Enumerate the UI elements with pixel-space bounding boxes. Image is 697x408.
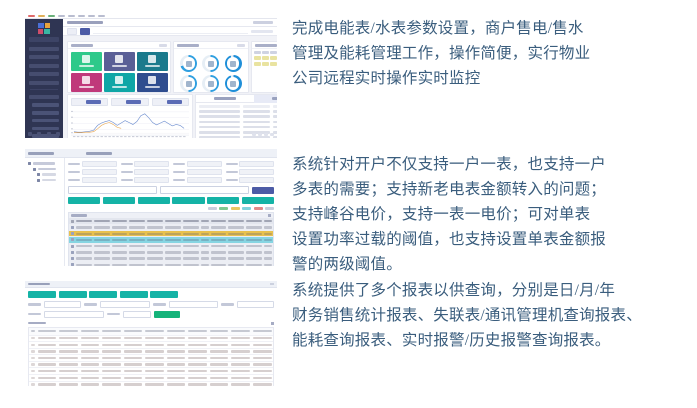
panel-quick-entry: [67, 41, 171, 93]
expand-icon[interactable]: [28, 162, 31, 165]
row-checkbox[interactable]: [71, 257, 74, 260]
cell: [270, 62, 277, 66]
gauge-glyph-icon: [208, 61, 214, 67]
panel-more-link[interactable]: [237, 44, 245, 47]
filter-field[interactable]: [226, 169, 275, 175]
meter-icon: [115, 55, 123, 63]
tile-label: [145, 65, 160, 67]
sidebar-item-home[interactable]: [29, 47, 59, 51]
filter-field[interactable]: [226, 177, 275, 183]
table-row[interactable]: [29, 382, 273, 386]
list-item[interactable]: [199, 110, 277, 113]
select-all-checkbox[interactable]: [71, 220, 74, 223]
window-maximize-icon: [48, 15, 55, 17]
expand-icon[interactable]: [33, 168, 36, 171]
table-row[interactable]: [29, 362, 273, 369]
quick-entry-grid[interactable]: [68, 49, 170, 94]
filter-label: [107, 313, 120, 315]
legend-alarm: [254, 207, 263, 210]
toolbar-icon: [78, 15, 85, 17]
cell: [262, 62, 269, 66]
filter-field[interactable]: [68, 169, 117, 175]
filter-field[interactable]: [121, 161, 170, 167]
legend-offline: [242, 207, 251, 210]
section-title: [86, 152, 112, 155]
row-checkbox[interactable]: [71, 263, 74, 266]
table-row[interactable]: [29, 355, 273, 362]
header-user-menu[interactable]: [253, 21, 273, 24]
meter-table-area: [65, 158, 277, 266]
sidebar-item-energy[interactable]: [29, 72, 59, 76]
tab-consumption-rank[interactable]: [254, 95, 277, 103]
cell: [254, 62, 261, 66]
list-item[interactable]: [199, 121, 277, 124]
filter-field[interactable]: [226, 161, 275, 167]
filter-field[interactable]: [68, 177, 117, 183]
filter-select-building[interactable]: [44, 301, 81, 308]
slide-root: 完成电能表/水表参数设置，商户售电/售水 管理及能耗管理工作，操作简便，实行物业…: [0, 0, 697, 408]
toolbar-icon: [68, 15, 75, 17]
breadcrumb: [63, 19, 277, 27]
panel-gauges: [173, 41, 249, 93]
list-item[interactable]: [199, 115, 277, 118]
offline-report-button[interactable]: [120, 291, 148, 298]
table-row[interactable]: [29, 342, 273, 349]
gauge-glyph-icon: [208, 81, 214, 87]
query-button[interactable]: [154, 311, 180, 318]
chart-filter-meter[interactable]: [152, 98, 189, 106]
legend-normal: [208, 207, 217, 210]
ranking-tabs[interactable]: [196, 95, 277, 103]
chart-filter-date[interactable]: [71, 98, 108, 106]
filter-label: [28, 303, 41, 305]
report-caption-bar: [28, 320, 274, 326]
tab-strip[interactable]: [63, 27, 277, 36]
filter-field[interactable]: [121, 169, 170, 175]
filter-field[interactable]: [173, 177, 222, 183]
list-item[interactable]: [199, 126, 277, 129]
table-row[interactable]: [254, 56, 277, 60]
search-row[interactable]: [68, 186, 274, 194]
monthly-report-button[interactable]: [59, 291, 87, 298]
filter-grid[interactable]: [68, 161, 274, 183]
chart-filter-building[interactable]: [111, 98, 148, 106]
table-header-row: [29, 328, 273, 336]
sidebar-nav[interactable]: [25, 47, 63, 138]
daily-report-button[interactable]: [28, 291, 56, 298]
screenshot-meter-table[interactable]: [25, 149, 277, 266]
filter-date-end[interactable]: [123, 311, 151, 318]
table-header-row: [199, 105, 277, 108]
gauge-glyph-icon: [186, 61, 192, 67]
panel-energy-trend: [67, 94, 193, 138]
panel-more-link[interactable]: [159, 44, 167, 47]
gauge-meter-3[interactable]: [225, 55, 242, 72]
tree-node-building[interactable]: [33, 168, 61, 171]
page-header-bar: [25, 281, 277, 288]
col-head: [270, 51, 277, 54]
fullscreen-icon[interactable]: [47, 132, 51, 136]
header-close-icon[interactable]: [270, 283, 274, 286]
building-tree-panel[interactable]: [25, 158, 65, 266]
tab-actions[interactable]: [251, 30, 273, 33]
tab-home[interactable]: [80, 28, 90, 35]
gauge-meter-4[interactable]: [180, 75, 197, 92]
dashboard-pagination[interactable]: [252, 133, 274, 136]
line-chart-svg: [71, 108, 189, 138]
folder-icon: [37, 173, 40, 176]
filter-field[interactable]: [121, 177, 170, 183]
tile-sell-power[interactable]: [71, 52, 102, 71]
table-header-row: [69, 218, 273, 225]
filter-label: [153, 303, 166, 305]
window-minimize-icon: [38, 15, 45, 17]
filter-label: [84, 303, 97, 305]
gauge-meter-2[interactable]: [202, 55, 219, 72]
toolbar-icon: [98, 15, 105, 17]
page-title: [28, 152, 54, 155]
dashboard-sidebar[interactable]: [25, 19, 63, 138]
table-row[interactable]: [29, 368, 273, 375]
panel-alarm-table: [251, 41, 277, 93]
search-input[interactable]: [68, 186, 157, 194]
tile-label: [112, 65, 127, 67]
page-header-bar: [25, 149, 277, 158]
action-button-row[interactable]: [68, 197, 274, 204]
toolbar-icon: [88, 15, 95, 17]
tile-label: [145, 86, 160, 88]
list-item[interactable]: [199, 136, 277, 138]
sidebar-item-reports[interactable]: [29, 95, 59, 99]
folder-icon: [37, 179, 40, 182]
cell: [254, 56, 261, 60]
report-filter-row-2[interactable]: [28, 311, 274, 318]
report-icon: [115, 76, 123, 84]
panel-title-text: [255, 44, 277, 47]
report-body: [25, 288, 277, 386]
column-settings-icon[interactable]: [268, 214, 271, 217]
energy-line-chart: [71, 108, 189, 138]
tile-label: [79, 86, 94, 88]
tile-report-query[interactable]: [104, 73, 135, 92]
panel-title-text: [71, 44, 93, 47]
bar-chart-icon: [82, 76, 90, 84]
recharge-button[interactable]: [172, 197, 204, 204]
delete-button[interactable]: [138, 197, 170, 204]
page-size-select[interactable]: [270, 133, 274, 136]
sidebar-subitem-yearly[interactable]: [32, 119, 59, 122]
app-logo-icon: [38, 23, 50, 34]
secondary-search-input[interactable]: [160, 186, 249, 194]
sidebar-subitem-daily[interactable]: [32, 103, 59, 106]
row-checkbox[interactable]: [71, 226, 74, 229]
page-next-icon[interactable]: [264, 133, 268, 136]
tree-node-floor[interactable]: [37, 173, 61, 176]
row-checkbox[interactable]: [71, 251, 74, 254]
gear-icon: [148, 76, 156, 84]
window-close-icon: [28, 15, 35, 17]
legend-active: [219, 207, 228, 210]
screenshot-dashboard[interactable]: [25, 14, 277, 138]
cell: [262, 56, 269, 60]
chart-filter-bar[interactable]: [68, 95, 192, 108]
filter-select-meter[interactable]: [100, 301, 150, 308]
tile-power-stats[interactable]: [71, 73, 102, 92]
tree-node-unit[interactable]: [37, 179, 61, 182]
transfer-button[interactable]: [207, 197, 239, 204]
breadcrumb-text: [67, 21, 103, 24]
logout-icon[interactable]: [56, 132, 60, 136]
feature-text-metering: 完成电能表/水表参数设置，商户售电/售水 管理及能耗管理工作，操作简便，实行物业…: [292, 16, 690, 91]
alarm-table: [252, 49, 277, 69]
report-caption-text: [28, 322, 46, 325]
chart-icon: [148, 55, 156, 63]
meter-table: [68, 218, 274, 266]
tile-label: [79, 65, 94, 67]
page-prev-icon[interactable]: [252, 133, 256, 136]
filter-date-start[interactable]: [44, 311, 104, 318]
sidebar-subitem-offline[interactable]: [32, 127, 59, 130]
row-checkbox[interactable]: [71, 238, 74, 241]
row-checkbox[interactable]: [71, 232, 74, 235]
tile-energy-analysis[interactable]: [137, 52, 168, 71]
sidebar-item-meter-read[interactable]: [29, 64, 59, 68]
screenshot-report[interactable]: [25, 281, 277, 386]
search-button[interactable]: [252, 187, 274, 194]
sidebar-item-alarm[interactable]: [29, 81, 59, 85]
legend-other: [265, 207, 274, 210]
filter-field[interactable]: [173, 161, 222, 167]
add-meter-button[interactable]: [68, 197, 100, 204]
panel-title-quick-entry: [68, 42, 170, 49]
gauge-meter-5[interactable]: [202, 75, 219, 92]
legend-warning: [231, 207, 240, 210]
panel-title-alarm: [252, 42, 277, 49]
export-button[interactable]: [242, 197, 274, 204]
column-settings-icon[interactable]: [271, 322, 274, 325]
sidebar-divider: [30, 89, 58, 90]
tab-close-all[interactable]: [67, 28, 77, 35]
filter-field[interactable]: [68, 161, 117, 167]
col-head: [254, 51, 261, 54]
cell: [270, 56, 277, 60]
panel-title-gauges: [174, 42, 248, 49]
gauge-meter-6[interactable]: [225, 75, 242, 92]
yearly-report-button[interactable]: [89, 291, 117, 298]
tile-remote-read[interactable]: [104, 52, 135, 71]
power-icon: [82, 55, 90, 63]
row-checkbox[interactable]: [71, 245, 74, 248]
table-row[interactable]: [29, 349, 273, 356]
edit-button[interactable]: [103, 197, 135, 204]
table-row[interactable]: [29, 336, 273, 343]
table-row[interactable]: [254, 62, 277, 66]
page-number[interactable]: [258, 133, 262, 136]
sidebar-item-sell-power[interactable]: [29, 55, 59, 59]
filter-select-type[interactable]: [237, 301, 274, 308]
panel-title-text: [177, 44, 199, 47]
tab-realtime-alarm[interactable]: [196, 95, 254, 103]
sidebar-footer-icons[interactable]: [25, 132, 63, 136]
export-excel-button[interactable]: [150, 291, 178, 298]
refresh-icon[interactable]: [37, 132, 41, 136]
filter-label: [221, 303, 234, 305]
table-caption-text: [71, 214, 87, 217]
table-header-row: [254, 51, 277, 54]
gauge-glyph-icon: [230, 81, 236, 87]
tile-system-settings[interactable]: [137, 73, 168, 92]
gauge-meter-1[interactable]: [180, 55, 197, 72]
feature-text-reports: 系统提供了多个报表以供查询，分别是日/月/年 财务销售统计报表、失联表/通讯管理…: [292, 278, 692, 353]
page-title: [28, 283, 50, 286]
gauge-grid: [174, 49, 248, 98]
tile-label: [112, 86, 127, 88]
sidebar-subitem-monthly[interactable]: [32, 111, 59, 114]
gauge-glyph-icon: [186, 81, 192, 87]
status-legend: [68, 207, 274, 210]
col-head: [262, 51, 269, 54]
tree-node-root[interactable]: [28, 162, 61, 165]
table-row[interactable]: [69, 262, 273, 266]
feature-text-account-support: 系统针对开户不仅支持一户一表，也支持一户 多表的需要；支持新老电表金额转入的问题…: [292, 152, 690, 278]
collapse-icon[interactable]: [28, 132, 32, 136]
report-table: [28, 327, 274, 386]
sidebar-user-info: [29, 37, 59, 42]
filter-input-owner[interactable]: [169, 301, 219, 308]
report-filter-row-1[interactable]: [28, 301, 274, 308]
toolbar-icon: [58, 15, 65, 17]
dashboard-main: [63, 19, 277, 138]
gauge-glyph-icon: [230, 61, 236, 67]
report-action-row[interactable]: [28, 291, 274, 298]
filter-label: [28, 313, 41, 315]
table-row[interactable]: [29, 375, 273, 382]
panel-ranking-list: [195, 94, 277, 138]
filter-field[interactable]: [173, 169, 222, 175]
